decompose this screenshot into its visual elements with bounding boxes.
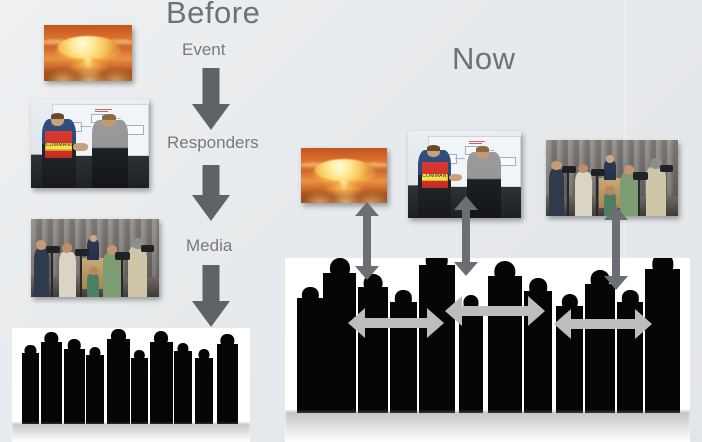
before-media-photo bbox=[31, 219, 159, 297]
arrow-down-icon bbox=[190, 68, 232, 130]
step-label-media: Media bbox=[186, 236, 232, 256]
now-public-crowd-photo bbox=[285, 258, 690, 442]
double-arrow-vertical-icon bbox=[603, 206, 629, 290]
command-vest-label: COMMAND bbox=[422, 174, 447, 180]
slide-canvas: Before Event Responders Media bbox=[0, 0, 702, 442]
double-arrow-vertical-icon bbox=[453, 196, 479, 276]
step-label-responders: Responders bbox=[167, 133, 259, 153]
now-event-photo bbox=[301, 148, 387, 203]
double-arrow-vertical-icon bbox=[354, 202, 380, 280]
step-label-event: Event bbox=[182, 40, 225, 60]
double-arrow-horizontal-icon bbox=[554, 308, 652, 340]
now-title: Now bbox=[452, 41, 516, 77]
before-title: Before bbox=[166, 0, 260, 31]
arrow-down-icon bbox=[190, 265, 232, 327]
double-arrow-horizontal-icon bbox=[445, 295, 545, 327]
command-vest-label: COMMAND bbox=[46, 143, 72, 149]
before-event-photo bbox=[44, 25, 132, 81]
before-responders-photo: COMMAND bbox=[31, 99, 149, 188]
now-media-photo bbox=[546, 140, 678, 216]
arrow-down-icon bbox=[190, 165, 232, 221]
double-arrow-horizontal-icon bbox=[348, 307, 444, 339]
before-public-crowd-photo bbox=[12, 328, 250, 442]
